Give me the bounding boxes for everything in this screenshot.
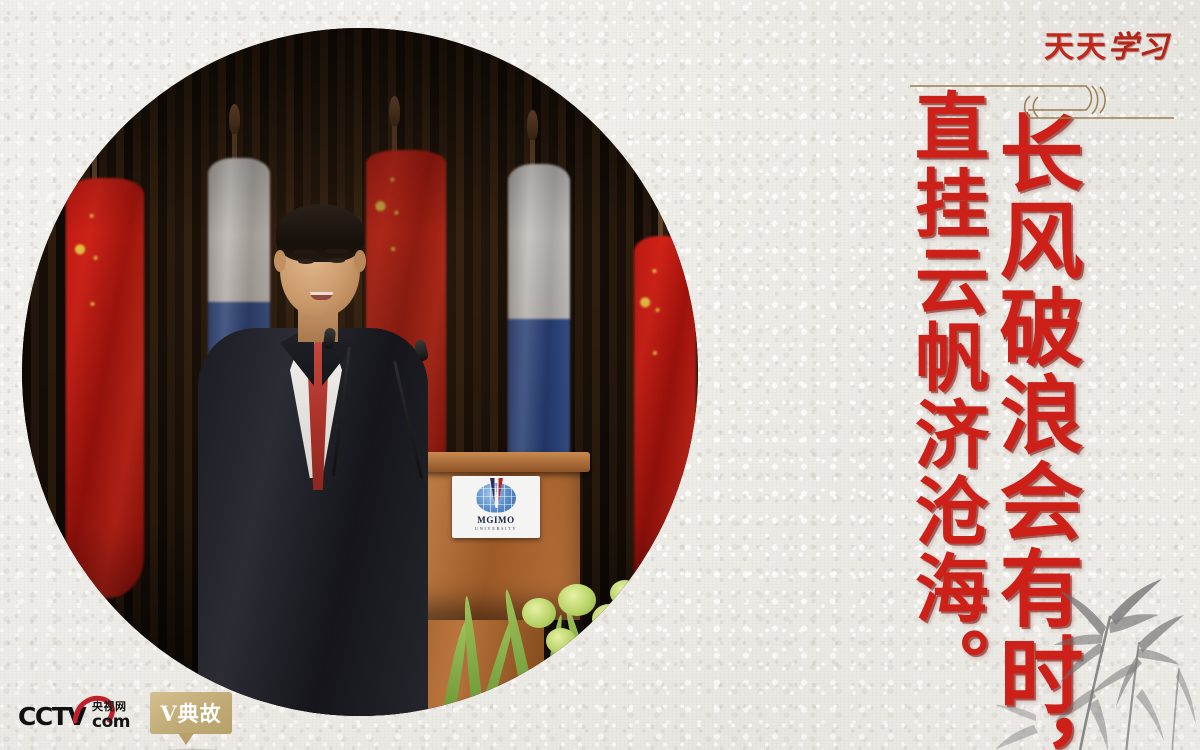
badge-body: V典故 xyxy=(150,692,232,734)
orchid-bloom xyxy=(522,598,556,628)
speaker-eye-left xyxy=(298,259,314,264)
cctv-domain: com xyxy=(92,712,130,732)
poster-canvas: MGIMO UNIVERSITY xyxy=(0,0,1200,750)
podium-flowers xyxy=(442,580,652,716)
ink-wash-bamboo-icon xyxy=(976,539,1200,750)
globe-icon xyxy=(476,483,516,513)
orchid-bloom xyxy=(610,580,640,606)
badge-pointer xyxy=(178,733,194,745)
v-diangu-badge[interactable]: V典故 xyxy=(150,692,232,734)
speaker-ear-right xyxy=(354,250,366,272)
gold-ruyi-scroll-rule-icon xyxy=(910,70,1174,126)
speaker-eye-right xyxy=(329,258,345,263)
badge-label: V典故 xyxy=(160,703,221,724)
orchid-bloom xyxy=(592,604,626,634)
mgimo-emblem-plate: MGIMO UNIVERSITY xyxy=(452,476,540,538)
quote-column-second: 直挂云帆济沧海。 xyxy=(907,88,982,704)
brandmark: 天天学习 xyxy=(998,22,1174,126)
speaker-brow-right xyxy=(326,249,348,253)
speaker-hair xyxy=(276,204,364,262)
brandmark-title-regular: 天天 xyxy=(1044,30,1108,65)
circular-photo: MGIMO UNIVERSITY xyxy=(22,28,698,716)
brandmark-title: 天天学习 xyxy=(1044,22,1168,66)
orchid-bloom xyxy=(558,584,596,616)
mgimo-plate-subtitle: UNIVERSITY xyxy=(475,526,517,531)
cctv-logo[interactable]: CCTV 央视网 com xyxy=(18,693,138,733)
speaker-brow-left xyxy=(294,250,316,254)
brandmark-title-cursive: 学习 xyxy=(1108,30,1168,65)
mgimo-chevron-icon xyxy=(490,478,503,508)
speaker-ear-left xyxy=(274,250,286,272)
mgimo-plate-title: MGIMO xyxy=(477,515,515,525)
logo-bar: CCTV 央视网 com V典故 xyxy=(18,692,232,734)
orchid-bloom xyxy=(546,628,576,654)
